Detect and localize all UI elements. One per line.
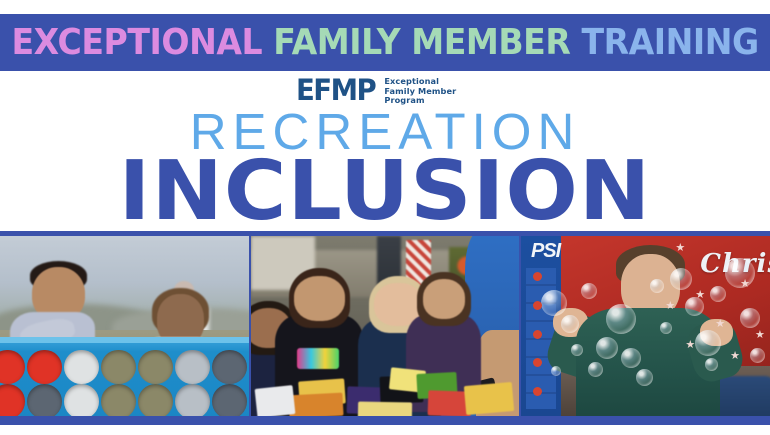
pepsi-sign-text: PSI bbox=[531, 240, 560, 263]
efmp-logo-subtitle: Exceptional Family Member Program bbox=[384, 77, 456, 106]
headline-area: EFMP Exceptional Family Member Program R… bbox=[0, 71, 770, 231]
efmp-logo: EFMP Exceptional Family Member Program bbox=[296, 76, 456, 106]
photo-children-crafts bbox=[251, 236, 519, 416]
headline-inclusion: INCLUSION bbox=[0, 151, 770, 233]
banner-word-family-member: FAMILY MEMBER bbox=[273, 22, 570, 63]
efmp-logo-mark: EFMP bbox=[296, 76, 375, 105]
photo-children-connect-four bbox=[0, 236, 249, 416]
banner-title: EXCEPTIONAL FAMILY MEMBER TRAINING bbox=[11, 25, 758, 61]
poster: EXCEPTIONAL FAMILY MEMBER TRAINING EFMP … bbox=[0, 0, 770, 435]
banner-word-training: TRAINING bbox=[581, 22, 758, 63]
top-banner: EXCEPTIONAL FAMILY MEMBER TRAINING bbox=[0, 14, 770, 71]
banner-word-exceptional: EXCEPTIONAL bbox=[11, 22, 262, 63]
photo-boy-bubbles: Chris PSI ★★★★★★★★ bbox=[521, 236, 770, 416]
photo-strip: Chris PSI ★★★★★★★★ bbox=[0, 231, 770, 425]
